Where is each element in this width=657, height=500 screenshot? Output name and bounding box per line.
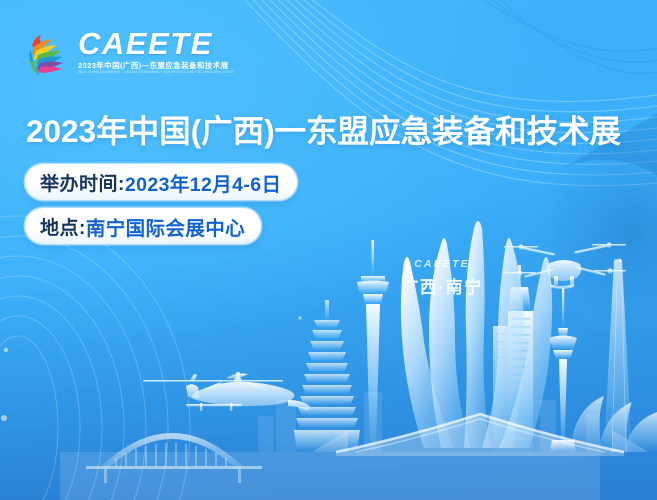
helicopter-vehicle [143, 372, 310, 411]
pagoda-landmark [294, 300, 360, 452]
arch-bridge-landmark [86, 436, 262, 483]
skyline-caption: CAEETE 广西·南宁 [392, 258, 492, 298]
page-title: 2023年中国(广西)一东盟应急装备和技术展 [26, 106, 621, 152]
office-skyscraper-landmark [493, 265, 533, 452]
event-venue-value: 南宁国际会展中心 [86, 212, 245, 241]
event-venue-pill: 地点: 南宁国际会展中心 [25, 208, 261, 244]
ground-plate [60, 452, 600, 500]
decorative-orb [527, 127, 657, 337]
event-venue-label: 地点: [40, 213, 86, 240]
background-buildings [258, 392, 600, 452]
expo-poster: CAEETE 2023年中国(广西)—东盟应急装备和技术展 2023 CHINA… [0, 0, 657, 500]
logo-subtitle-en: 2023 CHINA (GUANGXI) - ASEAN EMERGENCY E… [78, 71, 234, 74]
caeete-logo: CAEETE 2023年中国(广西)—东盟应急装备和技术展 2023 CHINA… [22, 27, 234, 75]
skyline-caption-cn: 广西·南宁 [392, 273, 492, 298]
skyline-caption-en: CAEETE [392, 258, 492, 270]
sparkle-dots [1, 316, 302, 421]
event-date-label: 举办时间: [40, 169, 125, 196]
event-date-pill: 举办时间: 2023年12月4-6日 [25, 164, 297, 200]
observation-tower-landmark [357, 240, 389, 452]
opera-house-landmark [570, 396, 657, 452]
ripple-rings [0, 216, 190, 500]
event-date-value: 2023年12月4-6日 [125, 168, 282, 197]
pagoda-windows [313, 335, 342, 426]
nanning-convention-center-landmark [312, 221, 648, 456]
twin-spire-tower-landmark [604, 258, 632, 452]
logo-wordmark: CAEETE [78, 28, 234, 59]
tv-tower-landmark [549, 288, 577, 452]
caeete-phoenix-logo-icon [22, 27, 70, 75]
poster-background-art [0, 0, 657, 500]
wave-lines [236, 0, 657, 186]
quadcopter-drone-vehicle [504, 242, 626, 289]
logo-subtitle-cn: 2023年中国(广西)—东盟应急装备和技术展 [78, 62, 234, 70]
skyscraper-windows [496, 318, 530, 440]
